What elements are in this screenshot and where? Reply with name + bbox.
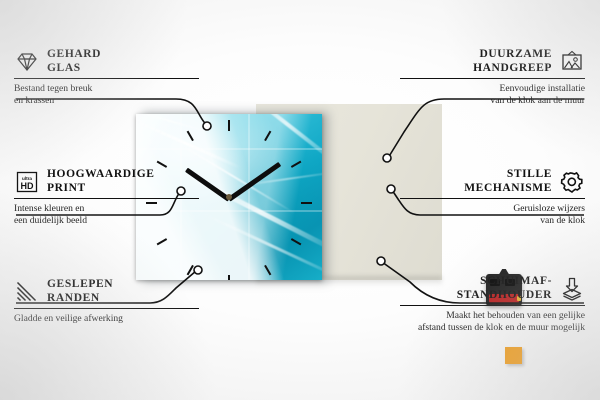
clock-marker <box>228 120 230 131</box>
feature-header: SCHUIMAF- STANDHOUDER <box>400 275 585 302</box>
feature-title: DUURZAME HANDGREEP <box>473 48 552 75</box>
feature-title: GEHARD GLAS <box>47 48 101 75</box>
arrow-down-spacer-icon <box>559 277 585 301</box>
feature-subtitle-line1: Eenvoudige installatie <box>400 83 585 94</box>
clock-marker <box>264 265 271 276</box>
feature-header: STILLE MECHANISME <box>400 168 585 195</box>
feature-title-line1: HOOGWAARDIGE <box>47 168 155 182</box>
feature-geslepen-randen: GESLEPEN RANDEN Gladde en veilige afwerk… <box>14 278 199 325</box>
feature-title-line1: SCHUIMAF- <box>457 275 552 289</box>
feature-subtitle-line2: afstand tussen de klok en de muur mogeli… <box>400 322 585 333</box>
clock-marker <box>187 131 194 142</box>
feature-subtitle: Intense kleuren en een duidelijk beeld <box>14 203 199 226</box>
feature-subtitle-line2: en krassen <box>14 95 199 106</box>
feature-subtitle-line1: Gladde en veilige afwerking <box>14 313 199 324</box>
feature-title: HOOGWAARDIGE PRINT <box>47 168 155 195</box>
feature-header: DUURZAME HANDGREEP <box>400 48 585 75</box>
feature-divider <box>14 308 199 309</box>
feature-divider <box>400 305 585 306</box>
feature-subtitle: Eenvoudige installatie van de klok aan d… <box>400 83 585 106</box>
feature-gehard-glas: GEHARD GLAS Bestand tegen breuk en krass… <box>14 48 199 106</box>
feature-title-line2: GLAS <box>47 62 101 76</box>
feature-title-line2: RANDEN <box>47 292 113 306</box>
feature-header: GESLEPEN RANDEN <box>14 278 199 305</box>
clock-marker <box>291 161 302 168</box>
feature-schuimafstandhouder: SCHUIMAF- STANDHOUDER Maakt het behouden… <box>400 275 585 333</box>
ultra-hd-icon: ultra HD <box>14 170 40 194</box>
feature-subtitle-line1: Intense kleuren en <box>14 203 199 214</box>
feature-header: GEHARD GLAS <box>14 48 199 75</box>
product-feature-infographic: GEHARD GLAS Bestand tegen breuk en krass… <box>0 0 600 400</box>
gear-icon <box>559 170 585 194</box>
feature-title-line2: MECHANISME <box>464 182 552 196</box>
clock-marker <box>301 202 312 204</box>
picture-frame-hanging-icon <box>559 50 585 74</box>
feature-title: STILLE MECHANISME <box>464 168 552 195</box>
feature-stille-mechanisme: STILLE MECHANISME Geruisloze wijzers van… <box>400 168 585 226</box>
feature-divider <box>14 78 199 79</box>
svg-text:HD: HD <box>21 181 34 191</box>
feature-subtitle-line1: Geruisloze wijzers <box>400 203 585 214</box>
feature-subtitle-line2: van de klok aan de muur <box>400 95 585 106</box>
glass-seam <box>248 114 250 280</box>
feature-title-line1: STILLE <box>464 168 552 182</box>
feature-duurzame-handgreep: DUURZAME HANDGREEP Eenvoudige installati… <box>400 48 585 106</box>
feature-divider <box>400 198 585 199</box>
clock-marker <box>187 265 194 276</box>
bevelled-edges-icon <box>14 280 40 304</box>
clock-marker <box>157 161 168 168</box>
feature-title-line2: HANDGREEP <box>473 62 552 76</box>
foam-spacer <box>505 347 522 364</box>
clock-marker <box>264 131 271 142</box>
feature-hoogwaardige-print: ultra HD HOOGWAARDIGE PRINT Intense kleu… <box>14 168 199 226</box>
clock-marker <box>157 238 168 245</box>
feature-subtitle-line1: Maakt het behouden van een gelijke <box>400 310 585 321</box>
clock-marker <box>291 238 302 245</box>
feature-title: GESLEPEN RANDEN <box>47 278 113 305</box>
glass-seam <box>136 148 322 150</box>
feature-subtitle: Gladde en veilige afwerking <box>14 313 199 324</box>
feature-subtitle: Maakt het behouden van een gelijke afsta… <box>400 310 585 333</box>
feature-subtitle-line2: van de klok <box>400 215 585 226</box>
feature-title: SCHUIMAF- STANDHOUDER <box>457 275 552 302</box>
feature-subtitle: Bestand tegen breuk en krassen <box>14 83 199 106</box>
feature-title-line1: GESLEPEN <box>47 278 113 292</box>
feature-title-line1: DUURZAME <box>473 48 552 62</box>
feature-title-line2: PRINT <box>47 182 155 196</box>
feature-subtitle: Geruisloze wijzers van de klok <box>400 203 585 226</box>
feature-title-line2: STANDHOUDER <box>457 289 552 303</box>
feature-subtitle-line1: Bestand tegen breuk <box>14 83 199 94</box>
clock-hub <box>226 194 232 200</box>
feature-header: ultra HD HOOGWAARDIGE PRINT <box>14 168 199 195</box>
feature-divider <box>14 198 199 199</box>
feature-subtitle-line2: een duidelijk beeld <box>14 215 199 226</box>
feature-divider <box>400 78 585 79</box>
glass-streak <box>202 212 322 278</box>
clock-marker <box>228 275 230 280</box>
diamond-icon <box>14 50 40 74</box>
feature-title-line1: GEHARD <box>47 48 101 62</box>
